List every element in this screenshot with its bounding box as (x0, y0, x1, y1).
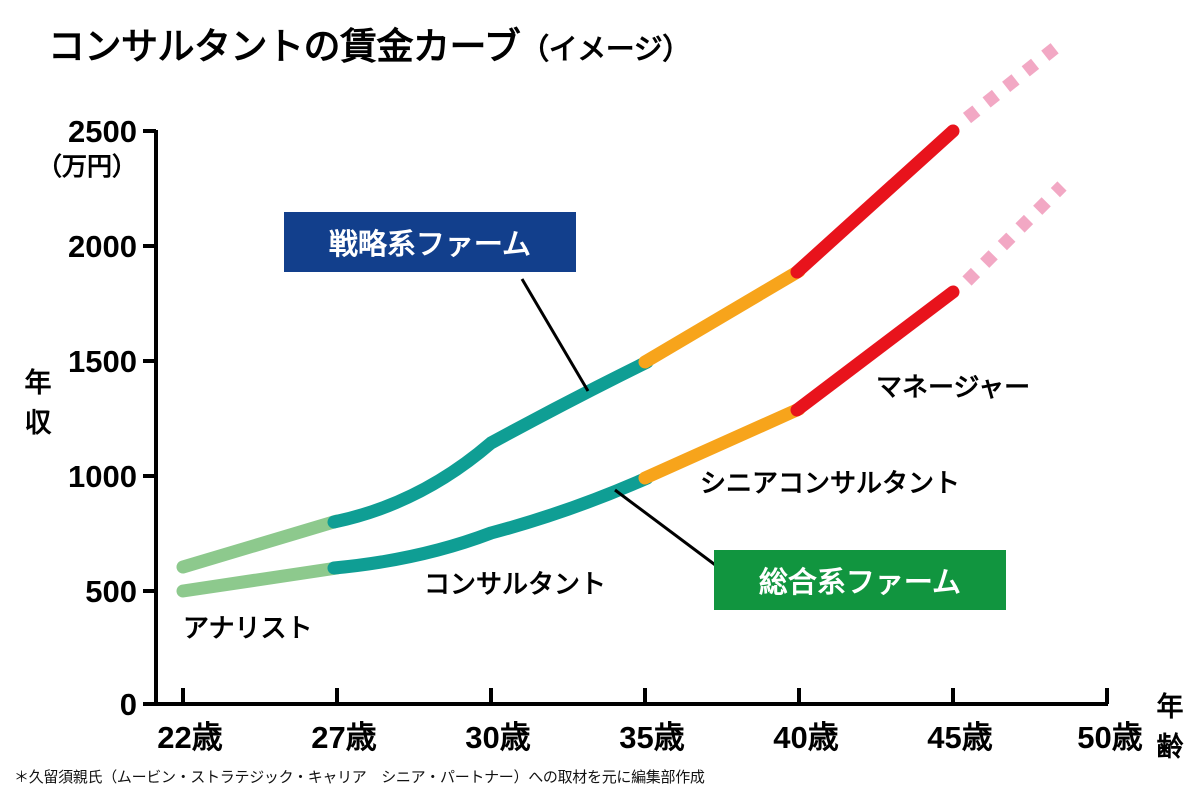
x-tick-label-40: 40歳 (773, 720, 838, 755)
footnote: ＊久留須親氏（ムービン・ストラテジック・キャリア シニア・パートナー）への取材を… (14, 766, 705, 787)
role-label-consultant: コンサルタント (424, 569, 606, 599)
role-label-analyst: アナリスト (183, 613, 312, 643)
role-label-senior-consultant: シニアコンサルタント (700, 468, 960, 498)
y-axis-unit: （万円） (37, 152, 137, 181)
leader-line-general (615, 490, 722, 570)
segment-consultant-general (334, 478, 647, 568)
segment-analyst-general (183, 568, 337, 591)
legend-general-label: 総合系ファーム (759, 566, 961, 599)
x-axis-name-char2: 齢 (1157, 731, 1184, 762)
x-tick-label-35: 35歳 (619, 720, 684, 755)
y-tick-label-1500: 1500 (68, 344, 137, 379)
y-axis-name-char2: 収 (25, 408, 53, 438)
y-tick-label-0: 0 (120, 687, 137, 722)
y-tick-label-2500: 2500 (68, 114, 137, 149)
x-axis-ticks (183, 688, 1107, 704)
x-tick-label-22: 22歳 (157, 720, 222, 755)
role-label-manager: マネージャー (876, 372, 1030, 402)
y-tick-label-500: 500 (85, 574, 137, 609)
leader-line-strategy (522, 279, 588, 391)
x-tick-label-30: 30歳 (465, 720, 530, 755)
wage-curve-chart: 2500 （万円） 2000 1500 1000 500 0 年 収 22歳 2… (0, 0, 1200, 800)
segment-projection-strategy (967, 44, 1060, 118)
legend-strategy-label: 戦略系ファーム (329, 228, 531, 261)
y-axis-name-char1: 年 (25, 367, 52, 398)
segment-manager-strategy (797, 131, 953, 272)
x-axis-name-char1: 年 (1157, 691, 1184, 722)
segment-senior-consultant-strategy (645, 271, 799, 362)
segment-projection-general (967, 186, 1062, 281)
legend-general-firm[interactable]: 総合系ファーム (714, 550, 1006, 610)
y-tick-label-2000: 2000 (68, 229, 137, 264)
chart-page: コンサルタントの賃金カーブ（イメージ） 2500 （万円） 2 (0, 0, 1200, 800)
segment-analyst-strategy (183, 521, 337, 567)
x-tick-label-27: 27歳 (311, 720, 376, 755)
x-tick-label-50: 50歳 (1077, 720, 1142, 755)
legend-strategy-firm[interactable]: 戦略系ファーム (284, 212, 576, 272)
y-tick-label-1000: 1000 (68, 459, 137, 494)
x-tick-label-45: 45歳 (927, 720, 992, 755)
